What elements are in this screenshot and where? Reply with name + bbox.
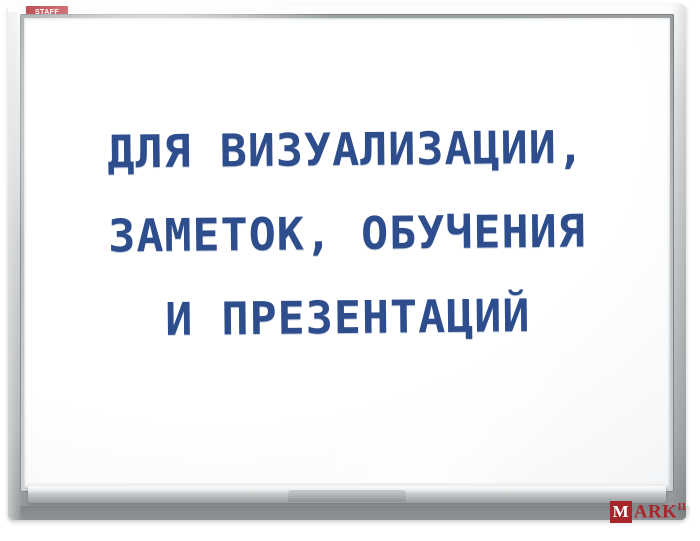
watermark-superscript: II: [677, 501, 686, 513]
frame-shadow-bottom: [20, 506, 690, 520]
frame-shadow-left: [8, 12, 20, 517]
handwritten-line-1: ДЛЯ ВИЗУАЛИЗАЦИИ,: [23, 105, 670, 196]
handwritten-line-2: ЗАМЕТОК, ОБУЧЕНИЯ: [24, 189, 671, 280]
marker-tray: [28, 483, 666, 503]
watermark-m-badge: M: [610, 501, 632, 523]
whiteboard-surface: ДЛЯ ВИЗУАЛИЗАЦИИ, ЗАМЕТОК, ОБУЧЕНИЯ И ПР…: [24, 18, 670, 488]
markii-watermark: M ARKII: [610, 499, 686, 525]
watermark-ark: ARK: [634, 501, 678, 522]
whiteboard-frame: STAFF ДЛЯ ВИЗУАЛИЗАЦИИ, ЗАМЕТОК, ОБУЧЕНИ…: [8, 4, 686, 520]
whiteboard-photo: STAFF ДЛЯ ВИЗУАЛИЗАЦИИ, ЗАМЕТОК, ОБУЧЕНИ…: [0, 0, 700, 541]
watermark-text: ARKII: [634, 501, 686, 523]
handwritten-text-block: ДЛЯ ВИЗУАЛИЗАЦИИ, ЗАМЕТОК, ОБУЧЕНИЯ И ПР…: [23, 105, 672, 364]
marker-tray-grip: [288, 489, 406, 502]
handwritten-line-3: И ПРЕЗЕНТАЦИЙ: [24, 273, 671, 364]
